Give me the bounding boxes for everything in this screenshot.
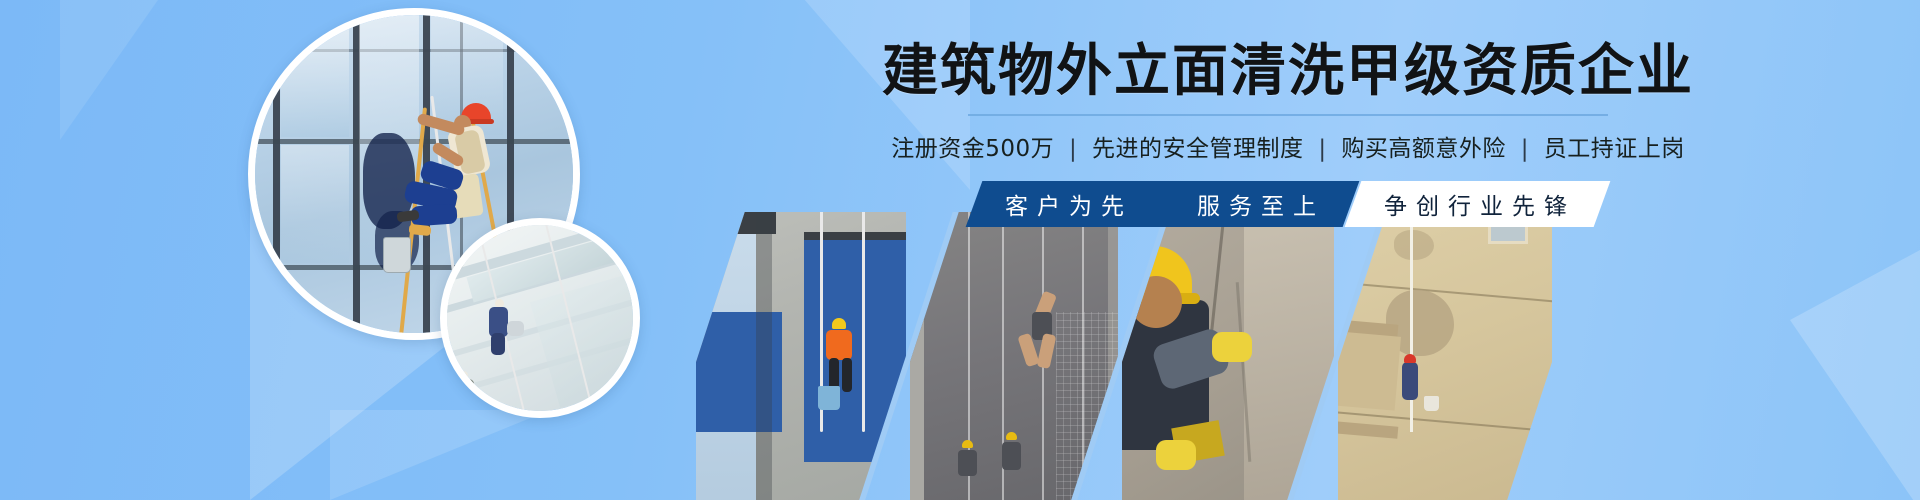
slogan-secondary: 争创行业先锋 bbox=[1345, 181, 1611, 227]
worker-figure bbox=[1402, 362, 1418, 400]
feature-separator: | bbox=[1069, 136, 1077, 162]
banner-text-block: 建筑物外立面清洗甲级资质企业 注册资金500万 | 先进的安全管理制度 | 购买… bbox=[648, 44, 1920, 227]
feature-list: 注册资金500万 | 先进的安全管理制度 | 购买高额意外险 | 员工持证上岗 bbox=[648, 129, 1920, 163]
deco-triangle-topleft bbox=[60, 0, 200, 140]
feature-item-3: 购买高额意外险 bbox=[1341, 136, 1506, 162]
slogan-primary-text: 客户为先 服务至上 bbox=[1000, 187, 1325, 221]
slogan-secondary-text: 争创行业先锋 bbox=[1379, 187, 1576, 221]
photo-strip bbox=[648, 212, 1920, 500]
worker-helmet-icon bbox=[832, 318, 846, 329]
title-divider bbox=[968, 114, 1608, 116]
photo-light-facade-workers bbox=[447, 225, 633, 411]
page-title: 建筑物外立面清洗甲级资质企业 bbox=[648, 44, 1920, 100]
promo-banner: 建筑物外立面清洗甲级资质企业 注册资金500万 | 先进的安全管理制度 | 购买… bbox=[0, 0, 1920, 500]
slogan-primary: 客户为先 服务至上 bbox=[966, 181, 1360, 227]
feature-item-1: 注册资金500万 bbox=[891, 136, 1054, 162]
feature-separator: | bbox=[1521, 136, 1529, 162]
deco-triangle-bottomleft bbox=[330, 410, 550, 500]
slogan-bar: 客户为先 服务至上 争创行业先锋 bbox=[648, 181, 1920, 227]
worker-helmet-icon bbox=[1404, 354, 1416, 363]
feature-item-2: 先进的安全管理制度 bbox=[1092, 136, 1304, 162]
feature-separator: | bbox=[1318, 136, 1326, 162]
feature-item-4: 员工持证上岗 bbox=[1544, 136, 1685, 162]
photo-circle-secondary bbox=[440, 218, 640, 418]
